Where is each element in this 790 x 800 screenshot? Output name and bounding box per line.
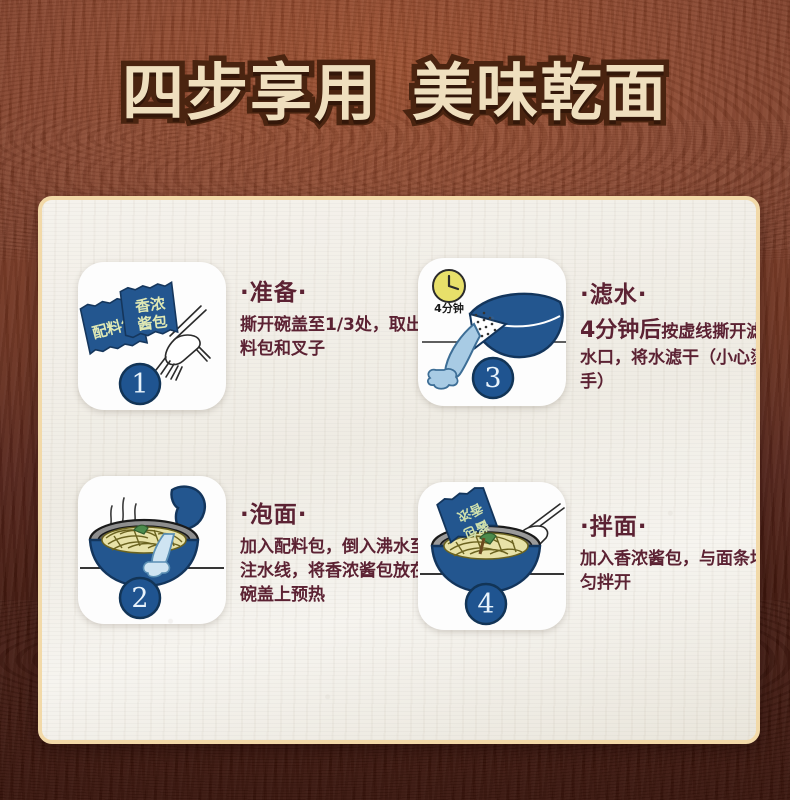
clock-label: 4分钟 bbox=[434, 301, 464, 315]
step-2-icon-box: 2 bbox=[78, 476, 226, 624]
step-3-number: 3 bbox=[484, 363, 501, 394]
step-4-number: 4 bbox=[477, 589, 494, 620]
title-part-1: 四步享用 bbox=[122, 62, 378, 124]
step-3-emphasis: 4分钟后 bbox=[580, 318, 661, 343]
step-4-body: 加入香浓酱包，与面条均匀拌开 bbox=[580, 547, 760, 595]
step-3-icon-box: 4分钟 bbox=[418, 258, 566, 406]
step-2-heading: ·泡面· bbox=[240, 504, 432, 527]
bowl-with-kettle-pouring-icon: 2 bbox=[78, 476, 226, 624]
step-2-number: 2 bbox=[131, 583, 148, 614]
seasoning-packets-and-fork-icon: 配料包 香浓 酱包 1 bbox=[78, 262, 226, 410]
step-1-body: 撕开碗盖至1/3处，取出料包和叉子 bbox=[240, 313, 432, 361]
step-2: 2 ·泡面· 加入配料包，倒入沸水至注水线，将香浓酱包放在碗盖上预热 bbox=[78, 476, 432, 624]
step-1-heading: ·准备· bbox=[240, 282, 432, 305]
step-4-icon-box: 香浓 酱包 4 bbox=[418, 482, 566, 630]
poster-root: 四步享用美味乾面 配料包 bbox=[0, 0, 790, 800]
step-2-text: ·泡面· 加入配料包，倒入沸水至注水线，将香浓酱包放在碗盖上预热 bbox=[240, 476, 432, 607]
step-3-heading: ·滤水· bbox=[580, 284, 760, 307]
bowl-draining-water-icon: 4分钟 bbox=[418, 258, 566, 406]
poster-title: 四步享用美味乾面 bbox=[0, 62, 790, 124]
step-1: 配料包 香浓 酱包 1 ·准备· 撕开碗盖至1/3处，取出料包和叉子 bbox=[78, 262, 432, 410]
step-3-text: ·滤水· 4分钟后按虚线撕开滤水口，将水滤干（小心烫手） bbox=[580, 258, 760, 394]
step-1-icon-box: 配料包 香浓 酱包 1 bbox=[78, 262, 226, 410]
step-1-text: ·准备· 撕开碗盖至1/3处，取出料包和叉子 bbox=[240, 262, 432, 361]
step-2-body: 加入配料包，倒入沸水至注水线，将香浓酱包放在碗盖上预热 bbox=[240, 535, 432, 607]
bowl-with-sauce-packet-and-fork-icon: 香浓 酱包 4 bbox=[418, 482, 566, 630]
step-1-number: 1 bbox=[131, 369, 148, 400]
step-3: 4分钟 bbox=[418, 258, 760, 406]
step-4-text: ·拌面· 加入香浓酱包，与面条均匀拌开 bbox=[580, 482, 760, 595]
step-4: 香浓 酱包 4 ·拌面· 加入香浓酱包，与面条均匀拌开 bbox=[418, 482, 760, 630]
step-3-body-wrap: 4分钟后按虚线撕开滤水口，将水滤干（小心烫手） bbox=[580, 315, 760, 394]
title-part-2: 美味乾面 bbox=[412, 62, 668, 124]
step-4-heading: ·拌面· bbox=[580, 516, 760, 539]
svg-text:酱包: 酱包 bbox=[136, 312, 168, 334]
instructions-card: 配料包 香浓 酱包 1 ·准备· 撕开碗盖至1/3处，取出料包和叉子 bbox=[38, 196, 760, 744]
